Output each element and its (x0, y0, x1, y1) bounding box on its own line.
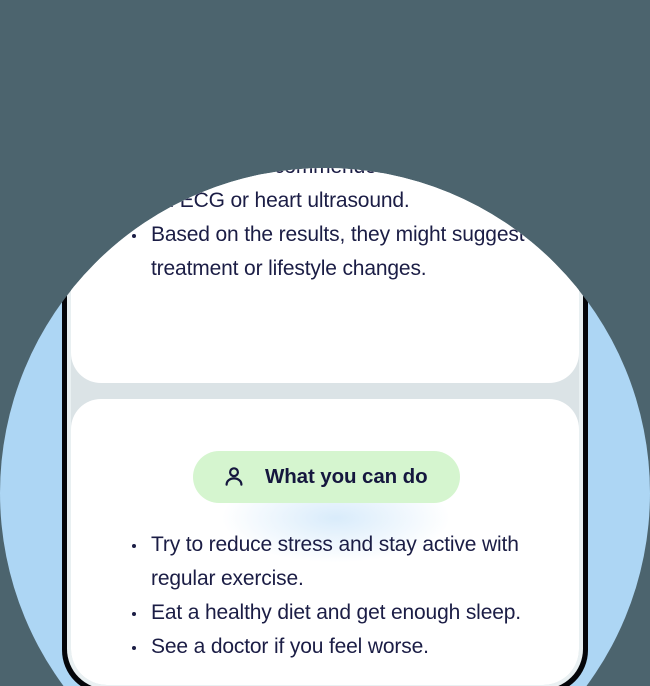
list-item: Eat a healthy diet and get enough sleep. (129, 596, 549, 630)
list-item: Try to reduce stress and stay active wit… (129, 528, 549, 596)
circular-mask: Plan moving forward The doctor recommend… (0, 168, 650, 686)
bullet-list-plan: The doctor recommended more tests, like … (129, 168, 549, 286)
card-plan-moving-forward: Plan moving forward The doctor recommend… (71, 168, 579, 383)
person-icon (221, 464, 247, 490)
list-item: Based on the results, they might suggest… (129, 218, 549, 286)
phone-screen: Plan moving forward The doctor recommend… (71, 168, 579, 685)
phone-mockup: Plan moving forward The doctor recommend… (62, 168, 588, 686)
card-header-label-actions: What you can do (265, 465, 428, 489)
bullet-list-actions: Try to reduce stress and stay active wit… (129, 528, 549, 664)
list-item: See a doctor if you feel worse. (129, 630, 549, 664)
screenshot-stage: Plan moving forward The doctor recommend… (0, 0, 650, 686)
list-item: The doctor recommended more tests, like … (129, 168, 549, 218)
circular-mask-content: Plan moving forward The doctor recommend… (0, 168, 650, 686)
phone-bezel-rim: Plan moving forward The doctor recommend… (67, 168, 583, 686)
card-header-pill-actions[interactable]: What you can do (193, 451, 460, 503)
